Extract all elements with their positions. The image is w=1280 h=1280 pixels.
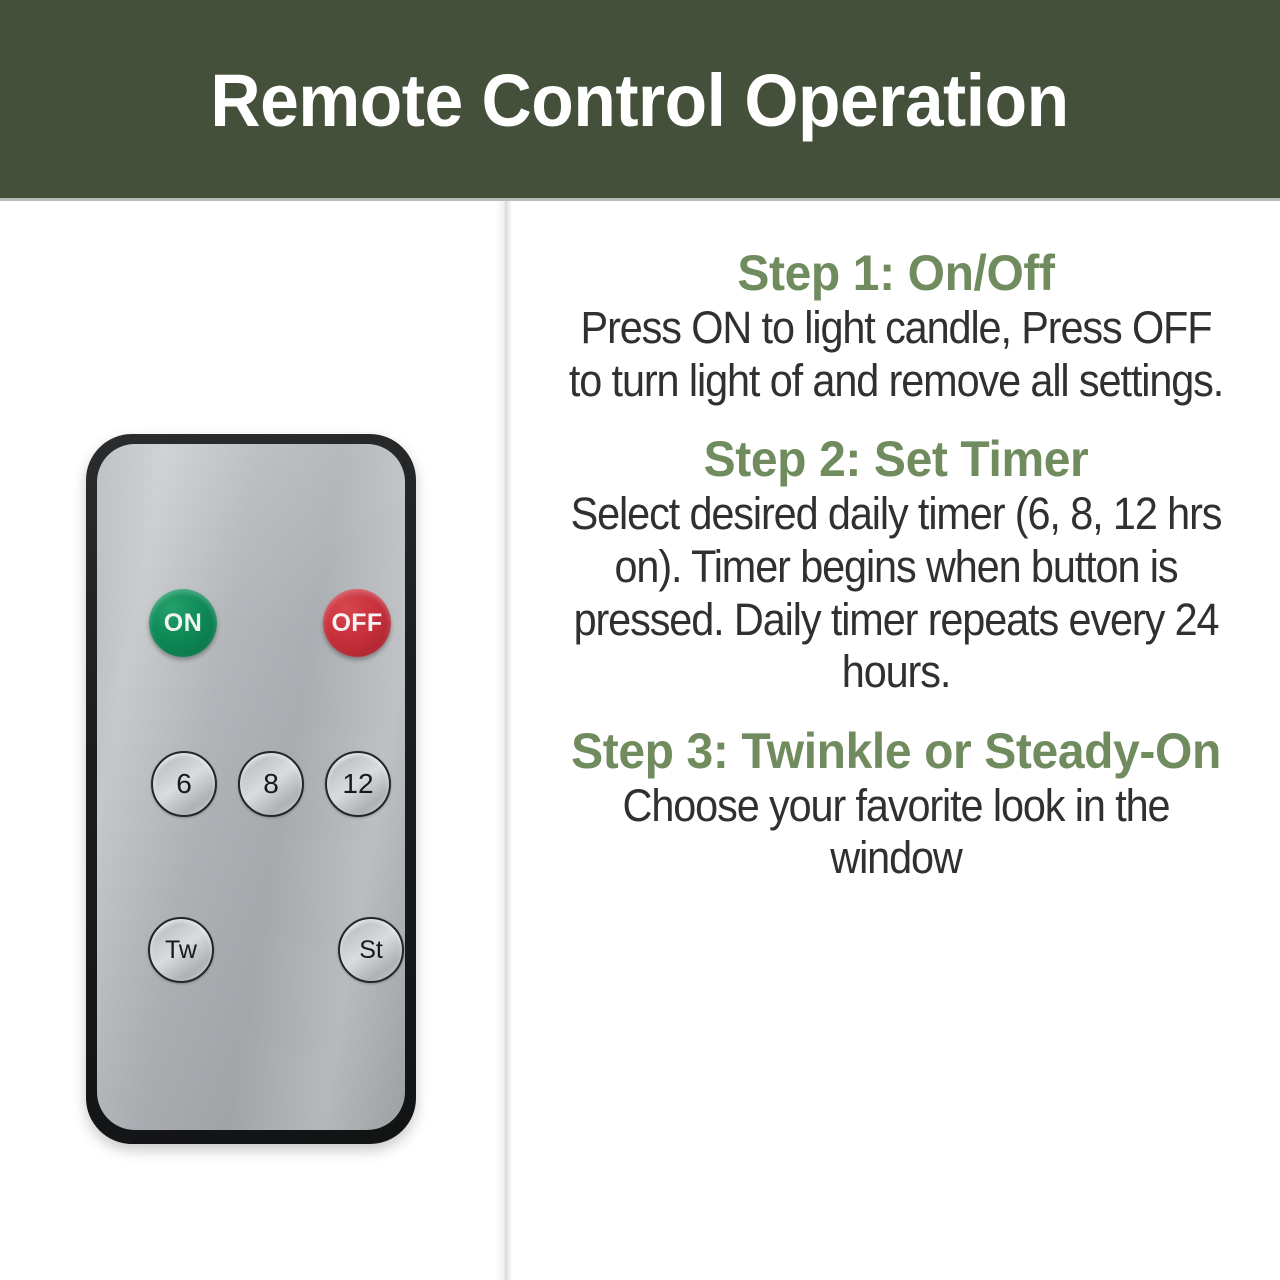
remote-button-timer-12[interactable]: 12 (325, 751, 391, 817)
remote-faceplate: ON OFF 6 8 12 Tw St (97, 444, 405, 1130)
step-1-body: Press ON to light candle, Press OFF to t… (568, 302, 1223, 407)
step-2-heading: Step 2: Set Timer (554, 433, 1238, 486)
step-1-heading: Step 1: On/Off (554, 247, 1238, 300)
instruction-step-3: Step 3: Twinkle or Steady-On Choose your… (540, 725, 1252, 885)
remote-control-device: ON OFF 6 8 12 Tw St (86, 434, 416, 1144)
remote-button-on[interactable]: ON (149, 589, 217, 657)
remote-button-timer-8[interactable]: 8 (238, 751, 304, 817)
remote-button-off-label: OFF (332, 611, 383, 636)
step-2-body: Select desired daily timer (6, 8, 12 hrs… (568, 488, 1223, 699)
step-3-heading: Step 3: Twinkle or Steady-On (554, 725, 1238, 778)
panel-divider (496, 201, 512, 1280)
instruction-step-1: Step 1: On/Off Press ON to light candle,… (540, 247, 1252, 407)
page-title: Remote Control Operation (211, 64, 1069, 138)
remote-button-steady[interactable]: St (338, 917, 404, 983)
instruction-step-2: Step 2: Set Timer Select desired daily t… (540, 433, 1252, 699)
remote-button-on-label: ON (164, 611, 203, 636)
step-3-body: Choose your favorite look in the window (568, 780, 1223, 885)
remote-button-off[interactable]: OFF (323, 589, 391, 657)
content-area: ON OFF 6 8 12 Tw St (0, 201, 1280, 1280)
remote-button-steady-label: St (359, 938, 383, 963)
page-header-banner: Remote Control Operation (0, 0, 1280, 198)
remote-button-timer-12-label: 12 (342, 770, 373, 798)
remote-button-timer-8-label: 8 (263, 770, 279, 798)
remote-button-timer-6-label: 6 (176, 770, 192, 798)
remote-button-timer-6[interactable]: 6 (151, 751, 217, 817)
remote-button-twinkle-label: Tw (165, 938, 197, 963)
instruction-steps-panel: Step 1: On/Off Press ON to light candle,… (512, 201, 1280, 1280)
remote-button-twinkle[interactable]: Tw (148, 917, 214, 983)
remote-image-panel: ON OFF 6 8 12 Tw St (0, 201, 496, 1280)
